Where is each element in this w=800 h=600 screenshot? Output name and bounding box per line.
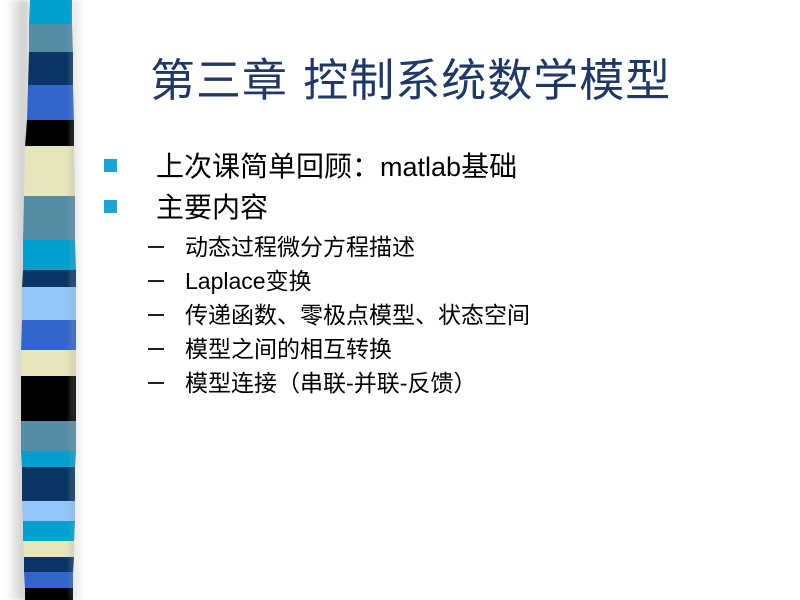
stripe-band xyxy=(0,146,110,197)
stripe-band xyxy=(0,196,110,241)
stripe-band xyxy=(0,350,110,377)
sub-zh-suffix: 变换 xyxy=(266,269,312,295)
sub-list-item: Laplace变换 xyxy=(148,265,764,299)
bullet-zh-prefix: 上次课简单回顾： xyxy=(156,150,380,183)
sub-list-item: 模型之间的相互转换 xyxy=(148,333,764,367)
stripe-band xyxy=(0,240,110,271)
bullet-zh-suffix: 基础 xyxy=(461,150,517,183)
stripe-right-shadow xyxy=(70,0,88,600)
sub-latin: Laplace xyxy=(185,268,266,294)
bullet-zh-prefix: 主要内容 xyxy=(156,191,268,224)
sub-bullet-text-1: Laplace变换 xyxy=(185,265,312,299)
stripe-band xyxy=(0,85,110,121)
sub-list: 动态过程微分方程描述 Laplace变换 传递函数、零极点模型、状态空间 模型之… xyxy=(104,231,764,401)
sub-list-item: 传递函数、零极点模型、状态空间 xyxy=(148,299,764,333)
stripe-band xyxy=(0,521,110,542)
square-bullet-icon xyxy=(104,159,117,172)
stripe-band xyxy=(0,421,110,452)
list-item: 上次课简单回顾：matlab基础 xyxy=(104,148,764,186)
slide-title: 第三章 控制系统数学模型 xyxy=(150,52,770,110)
list-item: 主要内容 xyxy=(104,189,764,227)
sub-bullet-text-0: 动态过程微分方程描述 xyxy=(185,231,415,265)
sub-bullet-text-2: 传递函数、零极点模型、状态空间 xyxy=(185,299,530,333)
stripe-band xyxy=(0,588,110,600)
bullet-text-0: 上次课简单回顾：matlab基础 xyxy=(156,148,517,186)
dash-bullet-icon xyxy=(148,382,164,384)
stripe-band xyxy=(0,557,110,573)
sub-list-item: 动态过程微分方程描述 xyxy=(148,231,764,265)
left-color-stripe xyxy=(0,0,110,600)
stripe-band xyxy=(0,287,110,321)
sub-list-item: 模型连接（串联-并联-反馈） xyxy=(148,367,764,401)
dash-bullet-icon xyxy=(148,348,164,350)
sub-zh-prefix: 模型之间的相互转换 xyxy=(185,337,392,363)
sub-zh-prefix: 动态过程微分方程描述 xyxy=(185,235,415,261)
stripe-band xyxy=(0,376,110,422)
stripe-band xyxy=(0,270,110,288)
square-bullet-icon xyxy=(104,200,117,213)
stripe-band xyxy=(0,320,110,351)
bullet-latin: matlab xyxy=(380,152,461,182)
stripe-band xyxy=(0,120,110,147)
stripe-band xyxy=(0,541,110,558)
dash-bullet-icon xyxy=(148,246,164,248)
sub-zh-prefix: 传递函数、零极点模型、状态空间 xyxy=(185,303,530,329)
sub-bullet-text-3: 模型之间的相互转换 xyxy=(185,333,392,367)
stripe-band xyxy=(0,467,110,502)
slide-body: 上次课简单回顾：matlab基础 主要内容 动态过程微分方程描述 Laplace… xyxy=(104,148,764,401)
sub-zh-prefix: 模型连接（串联-并联-反馈） xyxy=(185,371,477,397)
stripe-band xyxy=(0,24,110,53)
dash-bullet-icon xyxy=(148,314,164,316)
stripe-band xyxy=(0,451,110,468)
stripe-band xyxy=(0,501,110,522)
dash-bullet-icon xyxy=(148,280,164,282)
slide-canvas: 第三章 控制系统数学模型 上次课简单回顾：matlab基础 主要内容 动态过程微… xyxy=(0,0,800,600)
sub-bullet-text-4: 模型连接（串联-并联-反馈） xyxy=(185,367,477,401)
bullet-text-1: 主要内容 xyxy=(156,189,268,227)
stripe-band xyxy=(0,52,110,86)
stripe-band xyxy=(0,0,110,25)
stripe-band xyxy=(0,572,110,589)
